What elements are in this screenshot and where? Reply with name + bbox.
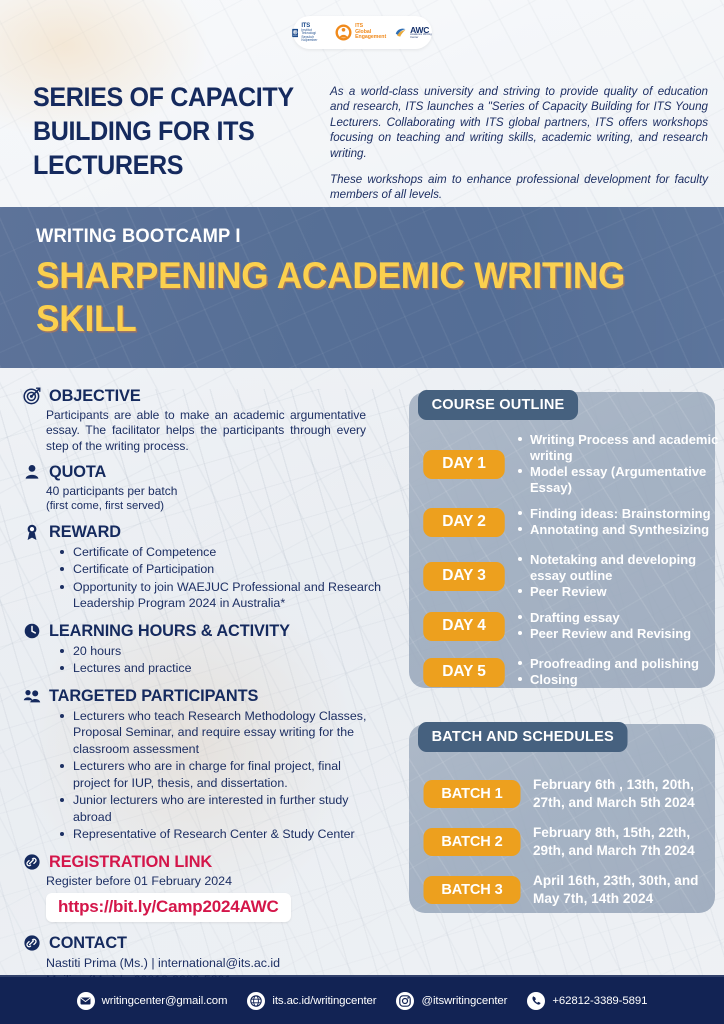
batch-dates: April 16th, 23th, 30th, and May 7th, 14t… [533, 872, 721, 907]
section-quota-header: QUOTA [22, 462, 400, 482]
its-logo: ITS Institut Teknologi Sepuluh Nopember [292, 23, 326, 43]
footer-instagram-text: @itswritingcenter [421, 995, 507, 1007]
day-items: Proofreading and polishing Closing [517, 656, 699, 688]
instagram-icon [396, 992, 414, 1010]
section-objective-body: Participants are able to make an academi… [46, 408, 400, 454]
batch-row: BATCH 1 February 6th , 13th, 20th, 27th,… [422, 776, 721, 811]
contact-line-1: Nastiti Prima (Ms.) | international@its.… [46, 955, 400, 972]
section-objective: OBJECTIVE Participants are able to make … [22, 386, 400, 454]
list-item: Lectures and practice [60, 660, 400, 677]
awc-logo: AWC Academic Writing Center [395, 25, 433, 40]
day-badge: DAY 5 [423, 658, 504, 687]
course-outline-row: DAY 2 Finding ideas: Brainstorming Annot… [422, 506, 711, 538]
list-item: Closing [517, 672, 699, 688]
batch-row: BATCH 3 April 16th, 23th, 30th, and May … [422, 872, 721, 907]
section-contact-title: CONTACT [49, 933, 127, 953]
list-item: Peer Review [517, 584, 724, 600]
section-contact-header: CONTACT [22, 933, 400, 953]
list-item: Lecturers who teach Research Methodology… [60, 708, 380, 758]
section-reward-header: REWARD [22, 522, 400, 542]
batch-dates: February 6th , 13th, 20th, 27th, and Mar… [533, 776, 721, 811]
footer-email-text: writingcenter@gmail.com [102, 995, 228, 1007]
registration-link[interactable]: https://bit.ly/Camp2024AWC [46, 893, 291, 922]
clock-icon [22, 621, 41, 640]
list-item: 20 hours [60, 643, 400, 660]
section-targeted-participants-title: TARGETED PARTICIPANTS [49, 686, 258, 706]
section-registration-title: REGISTRATION LINK [49, 852, 212, 872]
section-quota-line1: 40 participants per batch [46, 484, 400, 499]
its-logo-text: ITS Institut Teknologi Sepuluh Nopember [301, 23, 326, 43]
banner-title: SHARPENING ACADEMIC WRITING SKILL [36, 255, 644, 341]
batch-schedules-heading: BATCH AND SCHEDULES [418, 722, 627, 752]
section-reward-title: REWARD [49, 522, 121, 542]
footer-bar: writingcenter@gmail.com its.ac.id/writin… [0, 977, 724, 1024]
list-item: Notetaking and developing essay outline [517, 552, 724, 584]
list-item: Drafting essay [517, 610, 691, 626]
section-targeted-participants: TARGETED PARTICIPANTS Lecturers who teac… [22, 686, 400, 843]
person-icon [22, 463, 41, 482]
course-outline-row: DAY 3 Notetaking and developing essay ou… [422, 552, 724, 600]
section-reward: REWARD Certificate of Competence Certifi… [22, 522, 400, 612]
list-item: Peer Review and Revising [517, 626, 691, 642]
globe-icon [247, 992, 265, 1010]
footer-phone[interactable]: +62812-3389-5891 [527, 992, 647, 1010]
phone-icon [527, 992, 545, 1010]
list-item: Representative of Research Center & Stud… [60, 826, 380, 843]
batch-badge: BATCH 3 [424, 876, 521, 904]
course-outline-heading: COURSE OUTLINE [418, 390, 578, 420]
awc-swoosh-icon [395, 25, 407, 40]
list-item: Certificate of Participation [60, 561, 400, 578]
course-outline-row: DAY 4 Drafting essay Peer Review and Rev… [422, 610, 691, 642]
list-item: Proofreading and polishing [517, 656, 699, 672]
list-item: Annotating and Synthesizing [517, 522, 711, 538]
list-item: Lecturers who are in charge for final pr… [60, 758, 380, 791]
awc-logo-text: AWC Academic Writing Center [410, 26, 433, 40]
day-items: Notetaking and developing essay outline … [517, 552, 724, 600]
footer-phone-text: +62812-3389-5891 [552, 995, 647, 1007]
list-item: Model essay (Argumentative Essay) [517, 464, 724, 496]
list-item: Junior lecturers who are interested in f… [60, 792, 380, 825]
target-icon [22, 387, 41, 406]
batch-badge: BATCH 2 [424, 828, 521, 856]
section-registration: REGISTRATION LINK Register before 01 Feb… [22, 852, 400, 922]
section-learning-hours-title: LEARNING HOURS & ACTIVITY [49, 621, 290, 641]
left-column: OBJECTIVE Participants are able to make … [22, 386, 400, 993]
list-item: Opportunity to join WAEJUC Professional … [60, 579, 400, 612]
batch-dates: February 8th, 15th, 22th, 29th, and Marc… [533, 824, 721, 859]
intro-paragraph-2: These workshops aim to enhance professio… [330, 172, 708, 203]
link-icon [22, 852, 41, 871]
intro-text: As a world-class university and striving… [330, 84, 708, 203]
course-outline-row: DAY 1 Writing Process and academic writi… [422, 432, 724, 496]
section-reward-list: Certificate of Competence Certificate of… [60, 544, 400, 612]
ge-line3: Engagement [355, 35, 386, 41]
course-outline-row: DAY 5 Proofreading and polishing Closing [422, 656, 699, 688]
batch-row: BATCH 2 February 8th, 15th, 22th, 29th, … [422, 824, 721, 859]
batch-badge: BATCH 1 [424, 780, 521, 808]
registration-deadline: Register before 01 February 2024 [46, 874, 400, 888]
event-banner: WRITING BOOTCAMP I SHARPENING ACADEMIC W… [0, 207, 724, 368]
its-logo-sub: Institut Teknologi Sepuluh Nopember [301, 29, 326, 42]
section-quota-title: QUOTA [49, 462, 106, 482]
section-registration-header: REGISTRATION LINK [22, 852, 400, 872]
banner-kicker: WRITING BOOTCAMP I [36, 225, 241, 248]
footer-website-text: its.ac.id/writingcenter [272, 995, 376, 1007]
list-item: Writing Process and academic writing [517, 432, 724, 464]
day-items: Writing Process and academic writing Mod… [517, 432, 724, 496]
day-items: Finding ideas: Brainstorming Annotating … [517, 506, 711, 538]
page-title: SERIES OF CAPACITY BUILDING FOR ITS LECT… [33, 80, 293, 182]
section-quota-line2: (first come, first served) [46, 499, 400, 513]
list-item: Finding ideas: Brainstorming [517, 506, 711, 522]
poster: ITS Institut Teknologi Sepuluh Nopember … [0, 0, 724, 1024]
people-group-icon [22, 686, 41, 705]
footer-instagram[interactable]: @itswritingcenter [396, 992, 507, 1010]
section-targeted-participants-list: Lecturers who teach Research Methodology… [60, 708, 400, 843]
email-icon [77, 992, 95, 1010]
award-ribbon-icon [22, 522, 41, 541]
global-engagement-icon [335, 24, 352, 41]
day-items: Drafting essay Peer Review and Revising [517, 610, 691, 642]
global-engagement-text: ITS Global Engagement [355, 24, 386, 41]
logo-bar: ITS Institut Teknologi Sepuluh Nopember … [293, 16, 432, 49]
section-learning-hours: LEARNING HOURS & ACTIVITY 20 hours Lectu… [22, 621, 400, 677]
its-shield-icon [292, 23, 298, 43]
day-badge: DAY 2 [423, 508, 504, 537]
section-targeted-participants-header: TARGETED PARTICIPANTS [22, 686, 400, 706]
awc-logo-sub: Academic Writing Center [410, 34, 433, 39]
day-badge: DAY 4 [423, 612, 504, 641]
footer-email[interactable]: writingcenter@gmail.com [77, 992, 228, 1010]
list-item: Certificate of Competence [60, 544, 400, 561]
day-badge: DAY 1 [423, 450, 504, 479]
section-learning-hours-header: LEARNING HOURS & ACTIVITY [22, 621, 400, 641]
footer-website[interactable]: its.ac.id/writingcenter [247, 992, 376, 1010]
section-objective-title: OBJECTIVE [49, 386, 141, 406]
section-learning-hours-list: 20 hours Lectures and practice [60, 643, 400, 677]
section-quota: QUOTA 40 participants per batch (first c… [22, 462, 400, 514]
intro-paragraph-1: As a world-class university and striving… [330, 84, 708, 161]
section-objective-header: OBJECTIVE [22, 386, 400, 406]
day-badge: DAY 3 [423, 562, 504, 591]
link-icon [22, 933, 41, 952]
its-global-engagement-logo: ITS Global Engagement [335, 24, 386, 41]
